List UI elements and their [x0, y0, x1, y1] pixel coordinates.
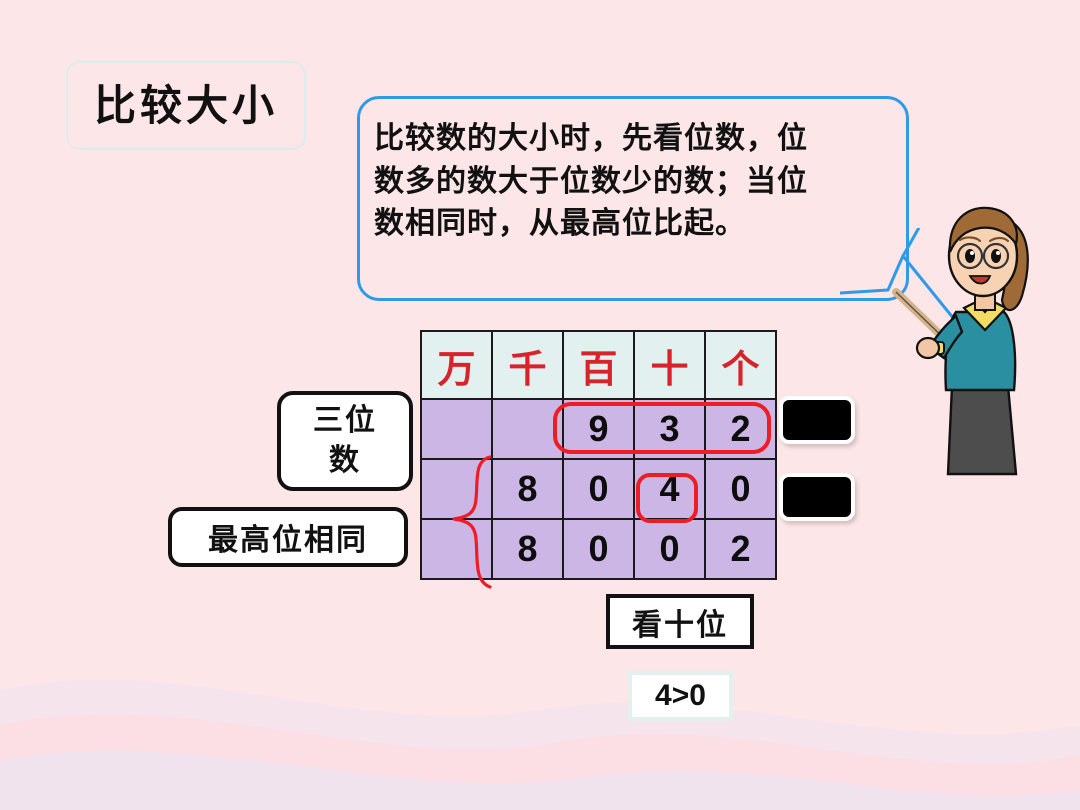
- table-cell: 0: [705, 459, 776, 519]
- table-cell: 0: [563, 459, 634, 519]
- callout-three-digit-number: 三位 数: [277, 391, 413, 491]
- page-title: 比较大小: [94, 85, 278, 127]
- table-header-cell: 万: [421, 331, 492, 399]
- table-cell: 4: [634, 459, 705, 519]
- hidden-answer-box[interactable]: [779, 473, 855, 521]
- table-header-row: 万 千 百 十 个: [421, 331, 776, 399]
- table-cell: [421, 519, 492, 579]
- table-cell: 0: [563, 519, 634, 579]
- table-header-cell: 十: [634, 331, 705, 399]
- hidden-answer-box[interactable]: [779, 396, 855, 444]
- place-value-table: 万 千 百 十 个 9 3 2 8 0 4 0 8 0 0 2: [420, 330, 777, 580]
- table-row: 8 0 0 2: [421, 519, 776, 579]
- callout-line-1: 三位: [313, 401, 377, 442]
- slide-canvas: 比较大小 比较数的大小时，先看位数，位 数多的数大于位数少的数；当位 数相同时，…: [0, 0, 1080, 810]
- table-row: 9 3 2: [421, 399, 776, 459]
- table-cell: 8: [492, 459, 563, 519]
- table-cell: 2: [705, 399, 776, 459]
- callout-see-tens-place: 看十位: [606, 594, 754, 649]
- teacher-illustration: [890, 196, 1080, 496]
- table-cell: 2: [705, 519, 776, 579]
- callout-comparison-result: 4>0: [628, 671, 733, 721]
- table-cell: [492, 399, 563, 459]
- table-header-cell: 个: [705, 331, 776, 399]
- table-row: 8 0 4 0: [421, 459, 776, 519]
- table-cell: [421, 399, 492, 459]
- table-header-cell: 百: [563, 331, 634, 399]
- background-wave-decoration: [0, 630, 1080, 810]
- table-cell: 3: [634, 399, 705, 459]
- table-cell: 8: [492, 519, 563, 579]
- table-cell: 0: [634, 519, 705, 579]
- slide-title-box: 比较大小: [66, 61, 306, 150]
- callout-line-2: 数: [329, 441, 361, 482]
- table-header-cell: 千: [492, 331, 563, 399]
- speech-bubble-text: 比较数的大小时，先看位数，位 数多的数大于位数少的数；当位 数相同时，从最高位比…: [374, 118, 894, 246]
- table-cell: 9: [563, 399, 634, 459]
- callout-same-highest-place: 最高位相同: [168, 507, 408, 567]
- table-cell: [421, 459, 492, 519]
